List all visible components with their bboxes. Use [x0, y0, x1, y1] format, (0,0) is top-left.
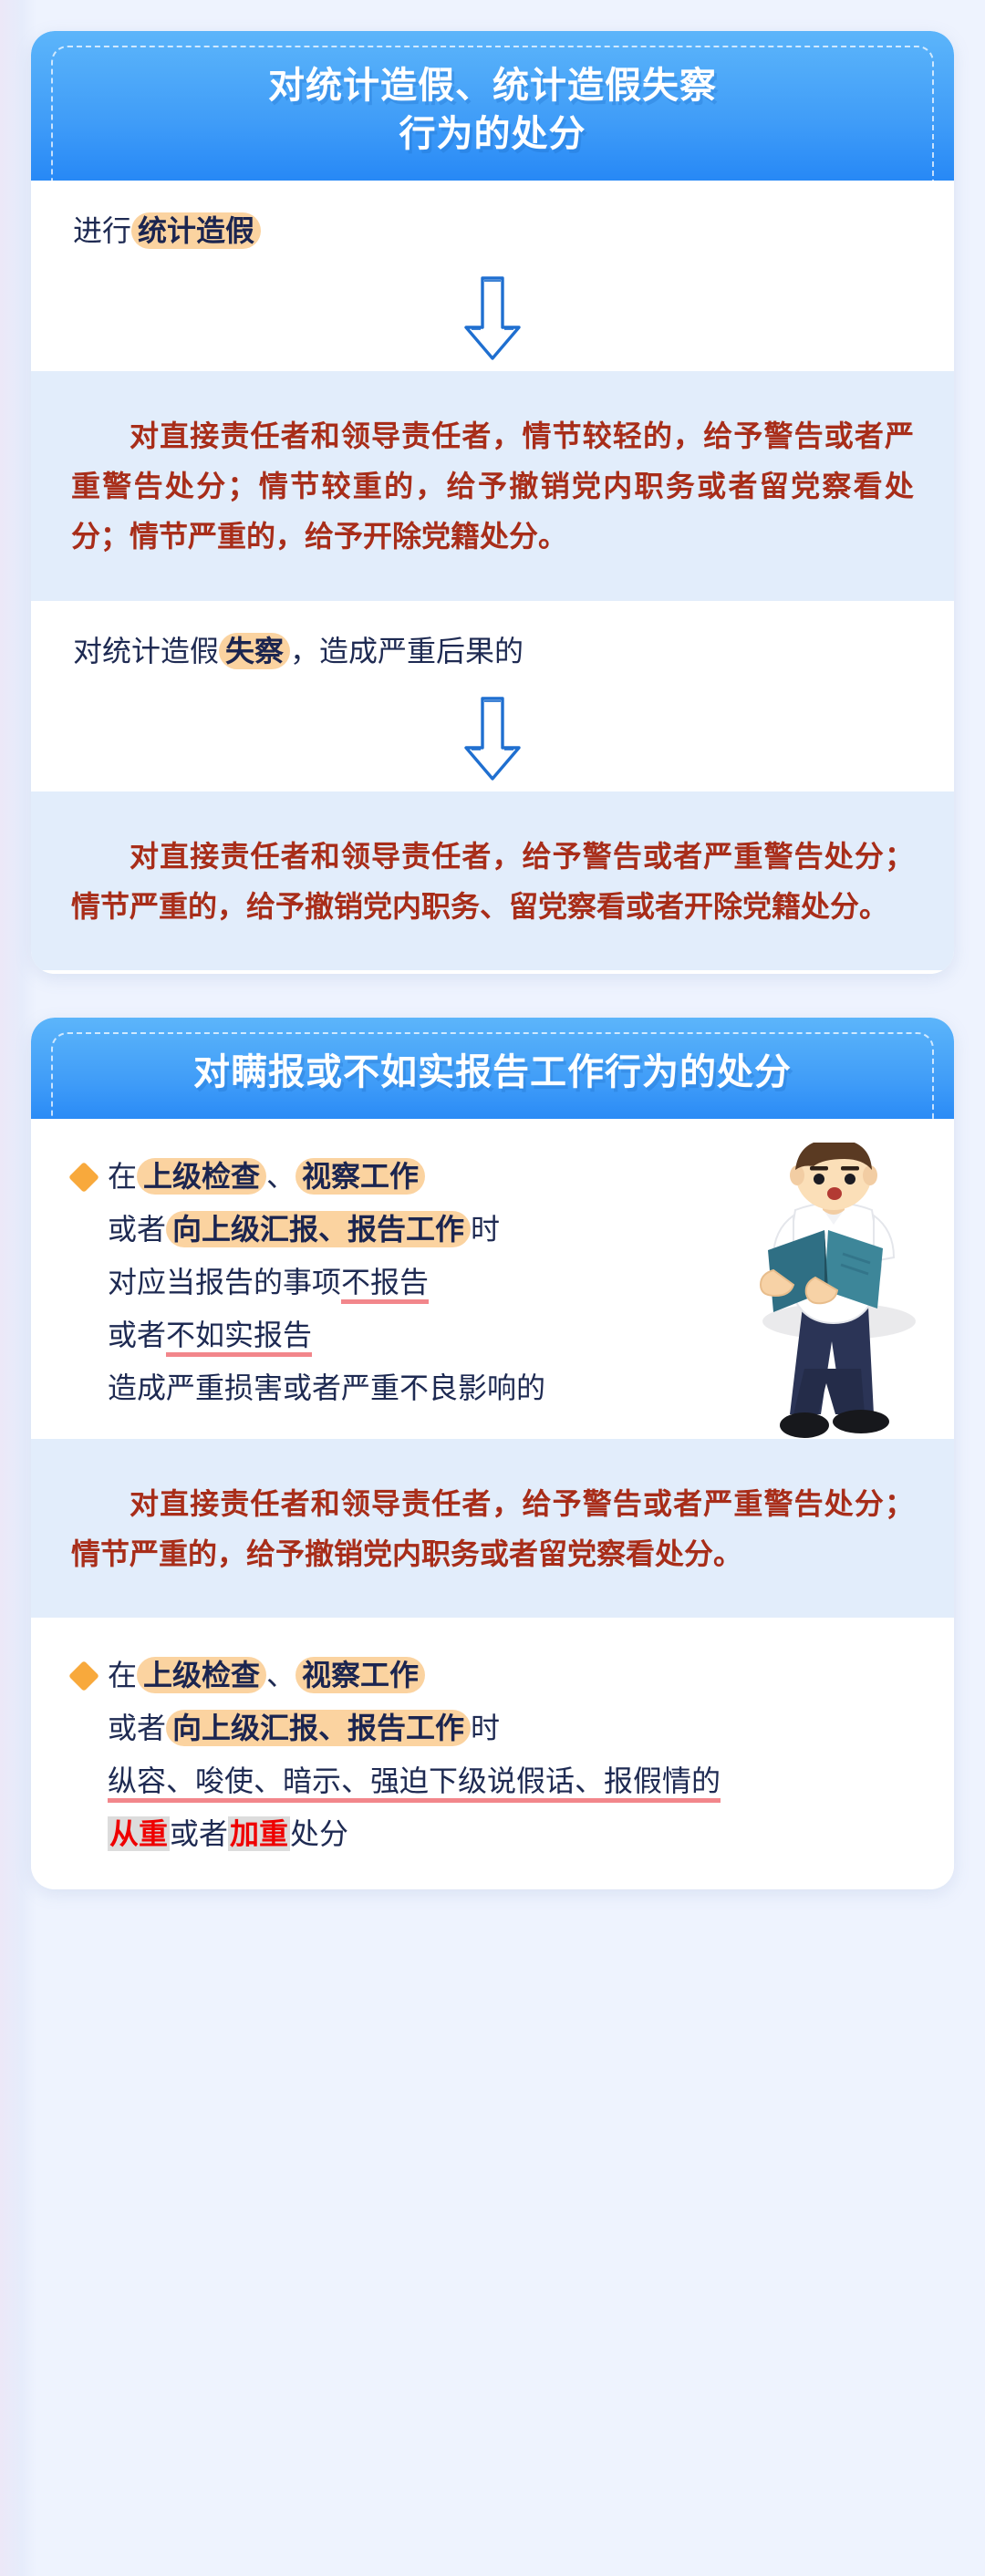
down-arrow-icon — [461, 695, 524, 782]
bullet-block: 在上级检查、视察工作或者向上级汇报、报告工作时对应当报告的事项不报告或者不如实报… — [31, 1119, 954, 1439]
statute-text: 对直接责任者和领导责任者，情节较轻的，给予警告或者严重警告处分；情节较重的，给予… — [71, 411, 914, 562]
card-statistical-fraud: 对统计造假、统计造假失察 行为的处分 进行统计造假 对直接责任者和领导责任者，情… — [31, 31, 954, 974]
underlined-text: 不如实报告 — [166, 1319, 312, 1357]
highlight-orange-text: 向上级汇报、报告工作 — [166, 1211, 471, 1247]
plain-text: 或者 — [170, 1817, 228, 1850]
plain-text: 进行 — [73, 214, 131, 247]
diamond-bullet-icon — [68, 1660, 99, 1691]
cards-root: 对统计造假、统计造假失察 行为的处分 进行统计造假 对直接责任者和领导责任者，情… — [31, 31, 954, 1889]
plain-text: 、 — [266, 1659, 295, 1691]
bullet-block: 在上级检查、视察工作或者向上级汇报、报告工作时纵容、唆使、暗示、强迫下级说假话、… — [31, 1618, 954, 1885]
bullet-line: 或者向上级汇报、报告工作时 — [108, 1705, 912, 1753]
bullet-text-group: 在上级检查、视察工作或者向上级汇报、报告工作时纵容、唆使、暗示、强迫下级说假话、… — [108, 1652, 912, 1857]
plain-text: 处分 — [290, 1817, 348, 1850]
plain-text: 在 — [108, 1659, 137, 1691]
statute-block: 对直接责任者和领导责任者，给予警告或者严重警告处分；情节严重的，给予撤销党内职务… — [31, 1439, 954, 1618]
card-body: 进行统计造假 对直接责任者和领导责任者，情节较轻的，给予警告或者严重警告处分；情… — [31, 181, 954, 975]
card-title: 对瞒报或不如实报告工作行为的处分 — [67, 1049, 918, 1097]
statement-line: 进行统计造假 — [73, 208, 912, 255]
bullet-row: 在上级检查、视察工作或者向上级汇报、报告工作时对应当报告的事项不报告或者不如实报… — [73, 1154, 912, 1412]
statement-line: 对统计造假失察，造成严重后果的 — [73, 628, 912, 676]
bullet-row: 在上级检查、视察工作或者向上级汇报、报告工作时纵容、唆使、暗示、强迫下级说假话、… — [73, 1652, 912, 1857]
plain-text: 造成严重损害或者严重不良影响的 — [108, 1371, 545, 1404]
plain-text: 或者 — [108, 1213, 166, 1246]
bullet-line: 在上级检查、视察工作 — [108, 1652, 912, 1700]
statute-block: 对直接责任者和领导责任者，情节较轻的，给予警告或者严重警告处分；情节较重的，给予… — [31, 371, 954, 600]
plain-text: 时 — [471, 1712, 500, 1744]
highlight-orange-text: 视察工作 — [295, 1657, 425, 1693]
bullet-text-group: 在上级检查、视察工作或者向上级汇报、报告工作时对应当报告的事项不报告或者不如实报… — [108, 1154, 912, 1412]
plain-text: 在 — [108, 1160, 137, 1193]
underlined-text: 纵容、唆使、暗示、强迫下级说假话、报假情的 — [108, 1764, 721, 1803]
highlight-orange-text: 上级检查 — [137, 1158, 266, 1195]
plain-text: 、 — [266, 1160, 295, 1193]
card-title: 对统计造假、统计造假失察 行为的处分 — [67, 62, 918, 159]
highlight-orange-text: 上级检查 — [137, 1657, 266, 1693]
highlight-orange-text: 视察工作 — [295, 1158, 425, 1195]
bullet-line: 从重或者加重处分 — [108, 1811, 912, 1858]
statute-text: 对直接责任者和领导责任者，给予警告或者严重警告处分；情节严重的，给予撤销党内职务… — [71, 832, 914, 932]
plain-text: 或者 — [108, 1319, 166, 1351]
card-body: 在上级检查、视察工作或者向上级汇报、报告工作时对应当报告的事项不报告或者不如实报… — [31, 1119, 954, 1889]
plain-text: 或者 — [108, 1712, 166, 1744]
plain-statement-block: 进行统计造假 — [31, 181, 954, 272]
highlight-orange-text: 失察 — [219, 633, 290, 669]
bullet-line: 对应当报告的事项不报告 — [108, 1259, 912, 1307]
emphasis-red-text: 从重 — [108, 1816, 170, 1851]
plain-text: 对应当报告的事项 — [108, 1266, 341, 1298]
bullet-line: 在上级检查、视察工作 — [108, 1154, 912, 1201]
diamond-bullet-icon — [68, 1162, 99, 1193]
statute-block: 对直接责任者和领导责任者，给予警告或者严重警告处分；情节严重的，给予撤销党内职务… — [31, 791, 954, 970]
card-header: 对统计造假、统计造假失察 行为的处分 — [31, 31, 954, 199]
bullet-line: 纵容、唆使、暗示、强迫下级说假话、报假情的 — [108, 1758, 912, 1805]
bullet-line: 造成严重损害或者严重不良影响的 — [108, 1365, 912, 1412]
infographic-wrapper: 对统计造假、统计造假失察 行为的处分 进行统计造假 对直接责任者和领导责任者，情… — [0, 0, 985, 1926]
emphasis-red-text: 加重 — [228, 1816, 290, 1851]
arrow-block — [31, 271, 954, 371]
underlined-text: 不报告 — [341, 1266, 429, 1304]
plain-text: 对统计造假 — [73, 635, 219, 667]
statute-text: 对直接责任者和领导责任者，给予警告或者严重警告处分；情节严重的，给予撤销党内职务… — [71, 1479, 914, 1579]
card-concealed-report: 对瞒报或不如实报告工作行为的处分 — [31, 1018, 954, 1888]
down-arrow-icon — [461, 274, 524, 362]
plain-text: ，造成严重后果的 — [290, 635, 524, 667]
bullet-line: 或者向上级汇报、报告工作时 — [108, 1206, 912, 1254]
plain-statement-block: 对统计造假失察，造成严重后果的 — [31, 601, 954, 692]
arrow-block — [31, 691, 954, 791]
plain-text: 时 — [471, 1213, 500, 1246]
highlight-orange-text: 统计造假 — [131, 212, 261, 249]
bullet-line: 或者不如实报告 — [108, 1312, 912, 1360]
highlight-orange-text: 向上级汇报、报告工作 — [166, 1710, 471, 1746]
